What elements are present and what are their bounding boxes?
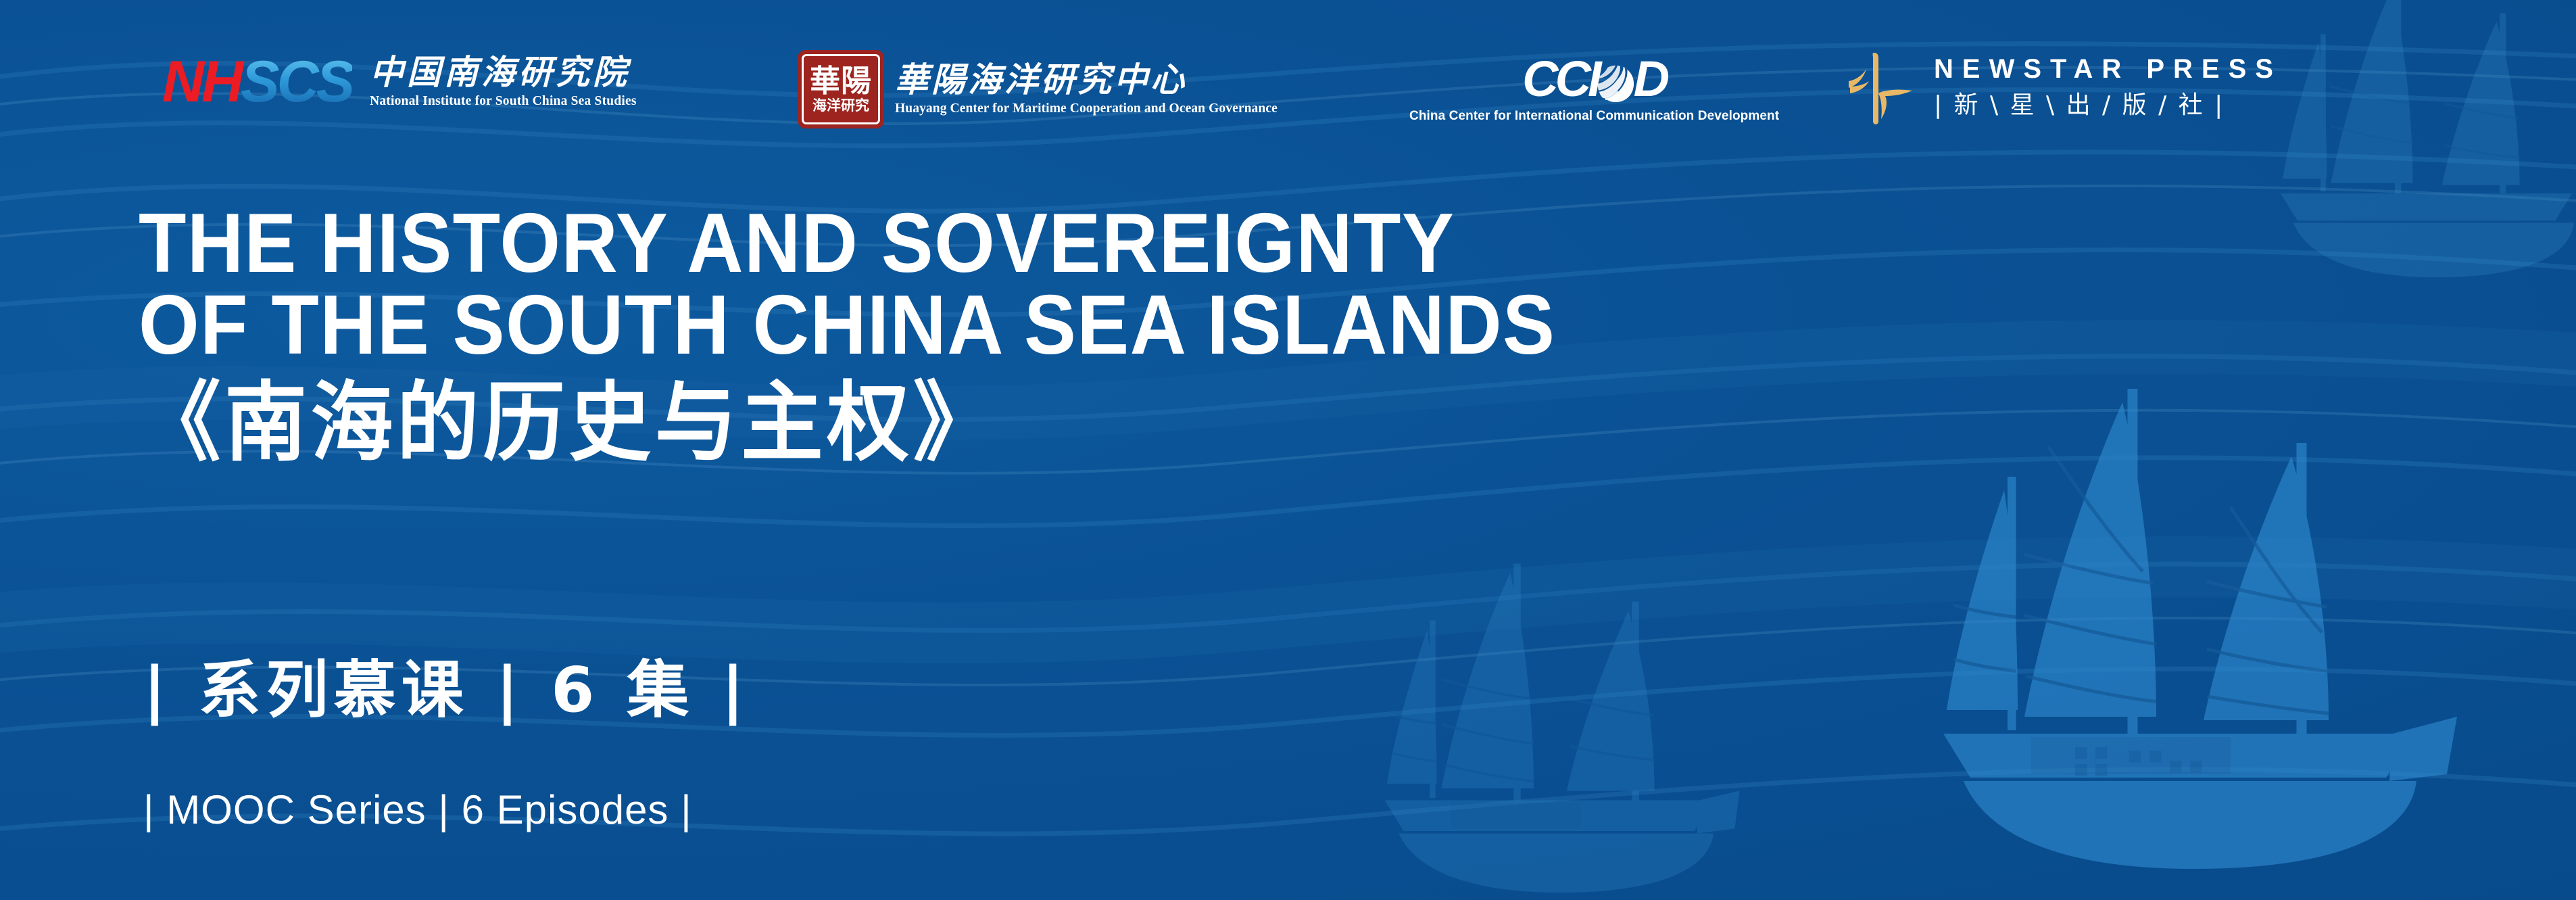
headline-line3-cn: 《南海的历史与主权》	[139, 375, 2065, 471]
partner-logo-row: NHSCS 中国南海研究院 National Institute for Sou…	[0, 42, 2576, 130]
headline-line2-en: OF THE SOUTH CHINA SEA ISLANDS	[139, 285, 2024, 366]
ccicd-wordmark-left: CCI	[1522, 54, 1598, 104]
series-info-cn: | 系列慕课 | 6 集 |	[143, 659, 750, 721]
mooc-promo-banner: NHSCS 中国南海研究院 National Institute for Sou…	[0, 0, 2576, 900]
huayang-name-cn: 華陽海洋研究中心	[895, 62, 1278, 98]
nhscs-name-en: National Institute for South China Sea S…	[370, 94, 637, 109]
ccicd-wordmark-right: D	[1634, 54, 1666, 104]
newstar-name-cn: | 新 \ 星 \ 出 / 版 / 社 |	[1934, 93, 2282, 118]
headline-block: THE HISTORY AND SOVEREIGNTY OF THE SOUTH…	[139, 203, 2166, 471]
newstar-brushstroke-icon	[1849, 49, 1914, 124]
ccicd-wordmark: CCI D	[1522, 54, 1666, 104]
logo-newstar: NEWSTAR PRESS | 新 \ 星 \ 出 / 版 / 社 |	[1849, 49, 2282, 124]
ccicd-name-en: China Center for International Communica…	[1409, 109, 1779, 124]
huayang-seal-icon: 華陽 海洋研究	[798, 50, 884, 128]
huayang-seal-bottom: 海洋研究	[812, 99, 869, 113]
nhscs-name-cn: 中国南海研究院	[370, 55, 637, 91]
huayang-name-en: Huayang Center for Maritime Cooperation …	[895, 101, 1278, 116]
nhscs-acronym: NHSCS	[162, 53, 352, 111]
series-info-en: | MOOC Series | 6 Episodes |	[143, 790, 692, 830]
headline-line1-en: THE HISTORY AND SOVEREIGNTY	[139, 203, 2024, 285]
nhscs-acronym-nh: NH	[162, 53, 241, 111]
logo-ccicd: CCI D China Center for International C	[1409, 54, 1779, 124]
nhscs-acronym-scs: SCS	[241, 53, 352, 111]
chinese-junk-ship-silhouette-back	[1359, 538, 1832, 900]
globe-icon	[1596, 62, 1635, 101]
logo-huayang: 華陽 海洋研究 華陽海洋研究中心 Huayang Center for Mari…	[798, 50, 1278, 128]
logo-nhscs: NHSCS 中国南海研究院 National Institute for Sou…	[162, 53, 637, 111]
newstar-name-en: NEWSTAR PRESS	[1934, 55, 2282, 82]
huayang-seal-top: 華陽	[810, 67, 872, 96]
